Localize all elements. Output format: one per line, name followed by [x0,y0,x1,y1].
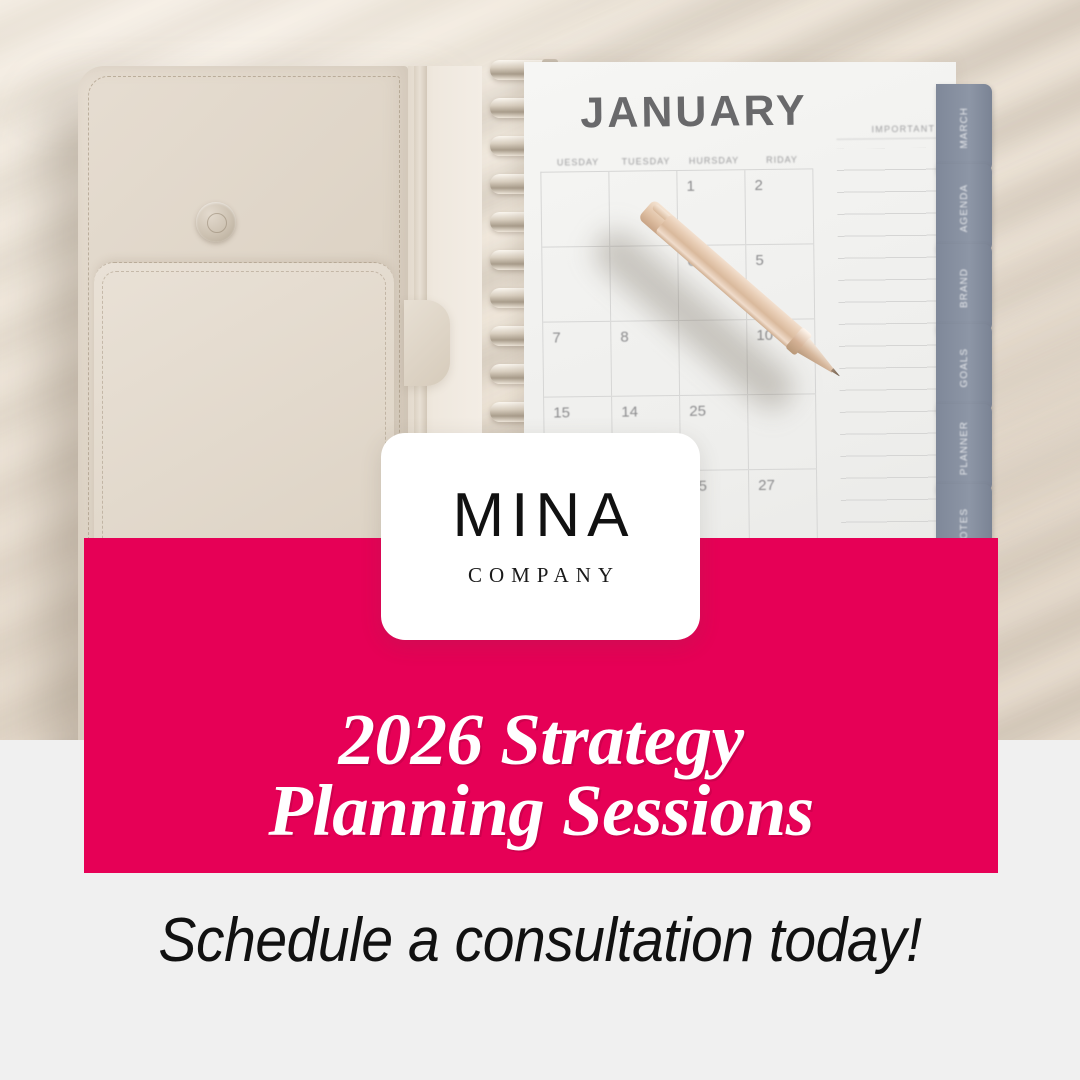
snap-button-icon [196,202,236,242]
calendar-day-number: 27 [758,477,775,494]
index-tab-strip: MARCHAGENDABRANDGOALSPLANNERNOTES [936,84,994,554]
index-tab: MARCH [936,84,992,172]
calendar-day-number: 14 [621,404,638,421]
index-tab-label: AGENDA [959,184,970,232]
brand-logo-card: MINA COMPANY [381,433,700,640]
calendar-day-number: 1 [686,178,695,195]
call-to-action-tagline: Schedule a consultation today! [43,905,1037,976]
calendar-day-number: 2 [754,177,763,194]
calendar-weekday-label: UESDAY [544,157,612,168]
index-tab: PLANNER [936,404,992,492]
calendar-day-cell: 27 [749,469,818,544]
calendar-day-cell: 2 [745,169,814,244]
calendar-weekday-label: TUESDAY [612,156,680,167]
social-post-canvas: JANUARY UESDAYTUESDAYHURSDAYRIDAY 126578… [0,0,1080,1080]
headline-text: 2026 Strategy Planning Sessions [84,704,998,847]
calendar-weekday-label: RIDAY [748,154,816,165]
brand-name: MINA [446,485,636,547]
headline-line-2: Planning Sessions [84,775,998,847]
brand-suffix: COMPANY [461,563,620,588]
index-tab-label: MARCH [959,107,970,149]
pen-loop [404,300,450,386]
index-tab: BRAND [936,244,992,332]
index-tab-label: PLANNER [959,421,970,475]
index-tab: GOALS [936,324,992,412]
calendar-day-number: 15 [553,404,570,421]
calendar-day-number: 8 [620,329,629,346]
index-tab: AGENDA [936,164,992,252]
calendar-weekday-label: HURSDAY [680,155,748,166]
calendar-day-cell: 7 [543,322,612,397]
headline-line-1: 2026 Strategy [84,704,998,776]
calendar-day-number: 5 [755,252,764,269]
calendar-month-title: JANUARY [524,86,865,139]
calendar-day-cell [541,172,610,247]
calendar-day-number: 25 [689,403,706,420]
calendar-day-cell: 8 [611,321,680,396]
calendar-day-number: 7 [552,329,561,346]
index-tab-label: BRAND [959,268,970,308]
index-tab-label: GOALS [959,348,970,387]
calendar-weekday-row: UESDAYTUESDAYHURSDAYRIDAY [544,154,816,167]
